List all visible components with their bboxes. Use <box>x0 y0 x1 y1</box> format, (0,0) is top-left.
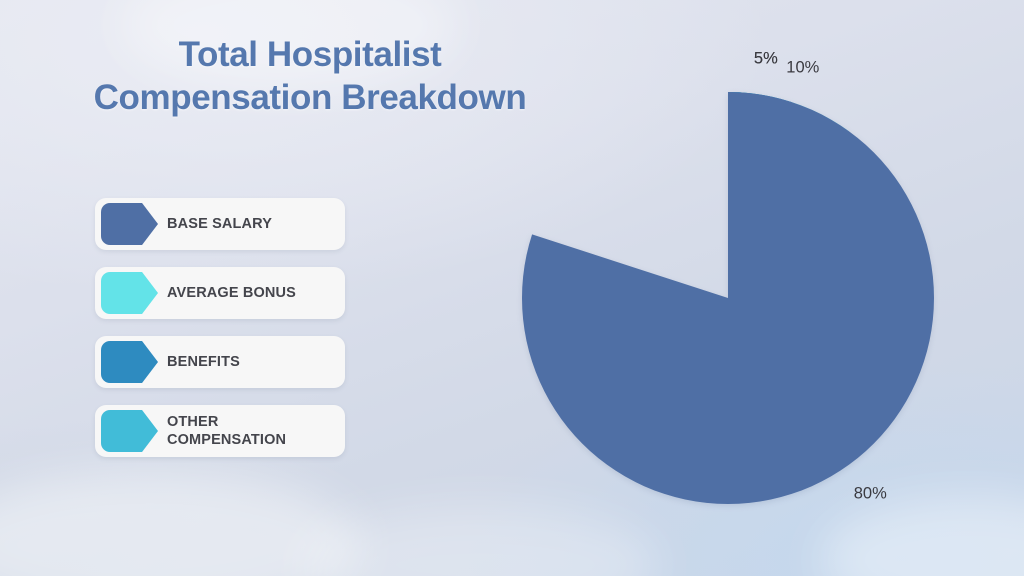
legend-item-label: BENEFITS <box>167 353 248 371</box>
background-wisp <box>0 470 360 576</box>
chart-title: Total Hospitalist Compensation Breakdown <box>40 34 580 119</box>
legend-color-swatch <box>101 272 158 314</box>
infographic-canvas: Total Hospitalist Compensation Breakdown… <box>0 0 1024 576</box>
background-wisp <box>820 495 1024 576</box>
legend-item-label-line-1: OTHER <box>167 413 286 431</box>
legend-item-label-line-2: COMPENSATION <box>167 431 286 449</box>
chart-legend: BASE SALARY AVERAGE BONUS BENEFITS OTHER… <box>95 198 345 474</box>
legend-item-benefits[interactable]: BENEFITS <box>95 336 345 388</box>
chart-title-line-1: Total Hospitalist <box>40 34 580 77</box>
legend-item-label: OTHER COMPENSATION <box>167 413 294 450</box>
pie-percent-label: 80% <box>854 484 887 503</box>
pie-percent-label: 10% <box>786 58 819 77</box>
chart-title-line-2: Compensation Breakdown <box>40 77 580 120</box>
legend-item-label-line-1: AVERAGE BONUS <box>167 284 296 302</box>
legend-color-swatch <box>101 410 158 452</box>
legend-item-average-bonus[interactable]: AVERAGE BONUS <box>95 267 345 319</box>
legend-item-base-salary[interactable]: BASE SALARY <box>95 198 345 250</box>
pie-percent-label: 5% <box>754 49 778 68</box>
legend-item-label-line-1: BENEFITS <box>167 353 240 371</box>
pie-slice-group <box>522 92 934 504</box>
pie-slice[interactable] <box>522 92 934 504</box>
legend-item-label: BASE SALARY <box>167 215 280 233</box>
pie-chart-svg <box>521 91 935 505</box>
legend-item-other-compensation[interactable]: OTHER COMPENSATION <box>95 405 345 457</box>
legend-color-swatch <box>101 203 158 245</box>
legend-item-label-line-1: BASE SALARY <box>167 215 272 233</box>
legend-item-label: AVERAGE BONUS <box>167 284 304 302</box>
pie-chart: 10%5%5%80% <box>521 91 935 505</box>
background-wisp <box>300 505 660 576</box>
legend-color-swatch <box>101 341 158 383</box>
